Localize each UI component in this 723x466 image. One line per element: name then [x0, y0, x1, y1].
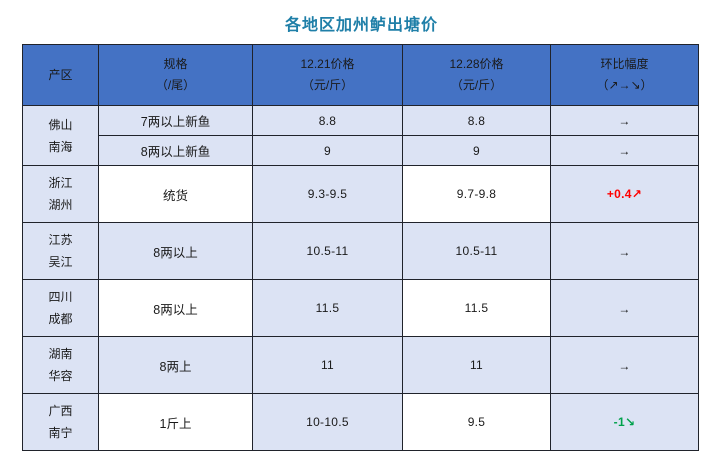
price-1221-value: 10-10.5 [253, 415, 402, 429]
price-1228-value: 8.8 [403, 114, 550, 128]
header-line2: （元/斤） [403, 75, 550, 96]
cell-price-1228: 9.5 [403, 394, 551, 451]
column-header-change: 环比幅度 （↗→↘） [551, 45, 699, 106]
price-1228-value: 10.5-11 [403, 244, 550, 258]
cell-region: 湖南华容 [23, 337, 99, 394]
change-value: → [551, 301, 698, 316]
cell-price-1221: 11.5 [253, 280, 403, 337]
change-value: → [551, 113, 698, 128]
region-line1: 浙江 [23, 172, 98, 194]
spec-value: 1斤上 [99, 413, 252, 432]
header-line1: 12.28价格 [403, 54, 550, 75]
header-line2: （元/斤） [253, 75, 402, 96]
table-row: 江苏吴江8两以上10.5-1110.5-11→ [23, 223, 699, 280]
cell-region: 四川成都 [23, 280, 99, 337]
cell-price-1228: 11 [403, 337, 551, 394]
cell-spec: 1斤上 [99, 394, 253, 451]
spec-value: 8两以上 [99, 299, 252, 318]
cell-price-1228: 8.8 [403, 106, 551, 136]
change-value: → [551, 358, 698, 373]
region-line1: 广西 [23, 400, 98, 422]
cell-change: → [551, 280, 699, 337]
price-1221-value: 9.3-9.5 [253, 187, 402, 201]
price-1221-value: 11 [253, 358, 402, 372]
region-line2: 湖州 [23, 194, 98, 216]
cell-change: → [551, 223, 699, 280]
change-value: → [551, 143, 698, 158]
cell-change: +0.4↗ [551, 166, 699, 223]
header-line2: （/尾） [99, 75, 252, 96]
cell-change: → [551, 106, 699, 136]
header-line1: 环比幅度 [551, 54, 698, 75]
cell-change: → [551, 136, 699, 166]
cell-price-1221: 9.3-9.5 [253, 166, 403, 223]
price-1221-value: 10.5-11 [253, 244, 402, 258]
region-line2: 吴江 [23, 251, 98, 273]
region-line2: 南宁 [23, 422, 98, 444]
table-row: 四川成都8两以上11.511.5→ [23, 280, 699, 337]
arrow-up-right-icon: ↗ [632, 187, 642, 201]
cell-price-1228: 9 [403, 136, 551, 166]
price-1228-value: 11 [403, 358, 550, 372]
column-header-region: 产区 [23, 45, 99, 106]
cell-change: → [551, 337, 699, 394]
spec-value: 统货 [99, 185, 252, 204]
cell-price-1221: 11 [253, 337, 403, 394]
price-1228-value: 9.7-9.8 [403, 187, 550, 201]
region-line1: 江苏 [23, 229, 98, 251]
cell-price-1228: 10.5-11 [403, 223, 551, 280]
region-line2: 成都 [23, 308, 98, 330]
cell-price-1221: 9 [253, 136, 403, 166]
table-row: 湖南华容8两上1111→ [23, 337, 699, 394]
header-line1: 12.21价格 [253, 54, 402, 75]
cell-spec: 8两以上新鱼 [99, 136, 253, 166]
spec-value: 8两以上 [99, 242, 252, 261]
change-value: -1↘ [551, 415, 698, 429]
header-line1: 规格 [99, 54, 252, 75]
cell-spec: 8两以上 [99, 280, 253, 337]
cell-price-1228: 9.7-9.8 [403, 166, 551, 223]
price-1228-value: 9.5 [403, 415, 550, 429]
cell-price-1221: 10.5-11 [253, 223, 403, 280]
region-line2: 南海 [23, 136, 98, 158]
column-header-price-1228: 12.28价格 （元/斤） [403, 45, 551, 106]
price-1228-value: 9 [403, 144, 550, 158]
arrow-right-icon: → [618, 144, 630, 158]
cell-spec: 7两以上新鱼 [99, 106, 253, 136]
cell-change: -1↘ [551, 394, 699, 451]
cell-price-1221: 8.8 [253, 106, 403, 136]
cell-region: 江苏吴江 [23, 223, 99, 280]
price-table: 产区 规格 （/尾） 12.21价格 （元/斤） 12.28价格 （元/斤） [22, 44, 699, 451]
region-line2: 华容 [23, 365, 98, 387]
cell-spec: 8两上 [99, 337, 253, 394]
price-table-page: 各地区加州鲈出塘价 产区 规格 （/尾） [0, 0, 723, 466]
header-line1: 产区 [23, 65, 98, 86]
table-header: 产区 规格 （/尾） 12.21价格 （元/斤） 12.28价格 （元/斤） [23, 45, 699, 106]
region-line1: 湖南 [23, 343, 98, 365]
spec-value: 7两以上新鱼 [99, 111, 252, 130]
header-row: 产区 规格 （/尾） 12.21价格 （元/斤） 12.28价格 （元/斤） [23, 45, 699, 106]
cell-price-1221: 10-10.5 [253, 394, 403, 451]
cell-region: 广西南宁 [23, 394, 99, 451]
spec-value: 8两以上新鱼 [99, 141, 252, 160]
table-row: 广西南宁1斤上10-10.59.5-1↘ [23, 394, 699, 451]
price-1228-value: 11.5 [403, 301, 550, 315]
arrow-right-icon: → [618, 359, 630, 373]
table-row: 8两以上新鱼99→ [23, 136, 699, 166]
change-value: +0.4↗ [551, 187, 698, 201]
price-1221-value: 11.5 [253, 301, 402, 315]
region-line1: 佛山 [23, 114, 98, 136]
arrow-down-right-icon: ↘ [625, 415, 635, 429]
table-row: 浙江湖州统货9.3-9.59.7-9.8+0.4↗ [23, 166, 699, 223]
change-amount: -1 [614, 415, 625, 429]
page-title: 各地区加州鲈出塘价 [0, 16, 723, 36]
cell-price-1228: 11.5 [403, 280, 551, 337]
table-body: 佛山南海7两以上新鱼8.88.8→8两以上新鱼99→浙江湖州统货9.3-9.59… [23, 106, 699, 451]
arrow-right-icon: → [618, 302, 630, 316]
arrow-right-icon: → [618, 114, 630, 128]
column-header-price-1221: 12.21价格 （元/斤） [253, 45, 403, 106]
price-1221-value: 8.8 [253, 114, 402, 128]
column-header-spec: 规格 （/尾） [99, 45, 253, 106]
cell-spec: 统货 [99, 166, 253, 223]
change-value: → [551, 244, 698, 259]
price-1221-value: 9 [253, 144, 402, 158]
table-row: 佛山南海7两以上新鱼8.88.8→ [23, 106, 699, 136]
cell-region: 浙江湖州 [23, 166, 99, 223]
cell-region: 佛山南海 [23, 106, 99, 166]
table-container: 产区 规格 （/尾） 12.21价格 （元/斤） 12.28价格 （元/斤） [22, 44, 698, 451]
spec-value: 8两上 [99, 356, 252, 375]
change-amount: +0.4 [607, 187, 632, 201]
header-line2: （↗→↘） [551, 75, 698, 96]
cell-spec: 8两以上 [99, 223, 253, 280]
region-line1: 四川 [23, 286, 98, 308]
arrow-right-icon: → [618, 245, 630, 259]
